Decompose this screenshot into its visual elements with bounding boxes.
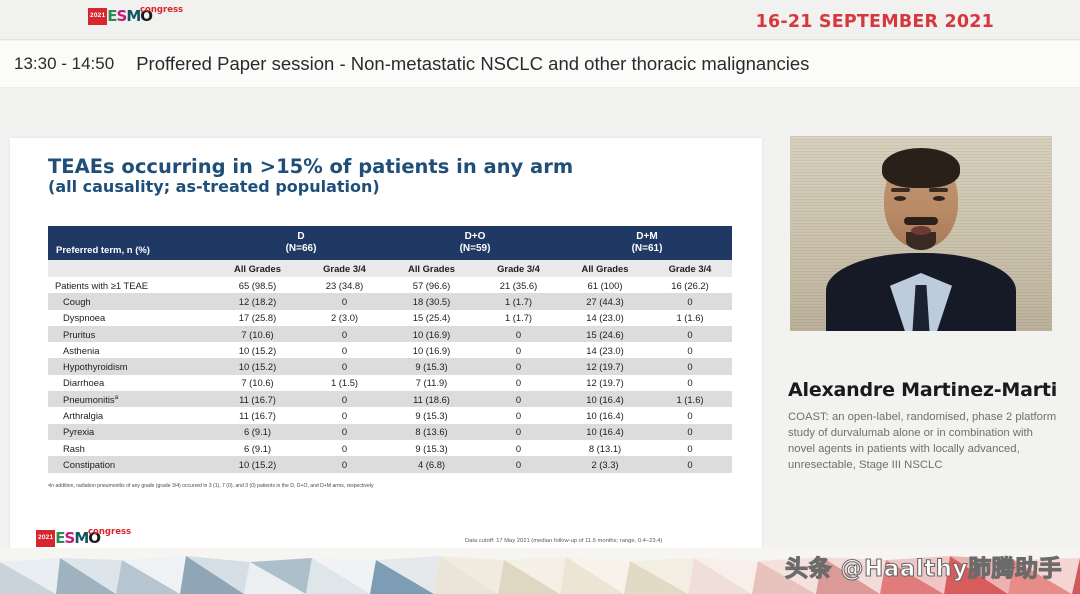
cell-value: 0 xyxy=(648,375,732,391)
cell-value: 11 (16.7) xyxy=(214,407,301,423)
column-header-arm-dm: D+M (N=61) xyxy=(562,226,732,260)
cell-value: 2 (3.0) xyxy=(301,310,388,326)
cell-value: 21 (35.6) xyxy=(475,277,562,293)
cell-value: 12 (19.7) xyxy=(562,375,648,391)
cell-value: 0 xyxy=(301,293,388,309)
speaker-name: Alexandre Martinez-Marti xyxy=(788,380,1063,402)
table-row: Asthenia10 (15.2)010 (16.9)014 (23.0)0 xyxy=(48,342,732,358)
slide-logo-letter-s: S xyxy=(65,530,75,547)
cell-value: 15 (24.6) xyxy=(562,326,648,342)
arm-dm-n: (N=61) xyxy=(632,243,663,254)
cell-value: 0 xyxy=(475,358,562,374)
logo-congress-text: congress xyxy=(140,5,183,15)
cell-value: 0 xyxy=(301,342,388,358)
cell-preferred-term: Pruritus xyxy=(48,326,214,342)
logo-letter-m: M xyxy=(126,8,140,25)
video-hair xyxy=(882,148,960,188)
cell-value: 0 xyxy=(301,326,388,342)
cell-value: 9 (15.3) xyxy=(388,440,475,456)
cell-value: 0 xyxy=(475,456,562,472)
subheader-do-all-grades: All Grades xyxy=(388,260,475,277)
subheader-dm-grade34: Grade 3/4 xyxy=(648,260,732,277)
cell-preferred-term: Diarrhoea xyxy=(48,375,214,391)
slide-logo-letter-e: E xyxy=(55,530,64,547)
cell-value: 10 (16.9) xyxy=(388,326,475,342)
cell-preferred-term: Patients with ≥1 TEAE xyxy=(48,277,214,293)
cell-value: 0 xyxy=(475,440,562,456)
slide-logo-year-badge: 2021 xyxy=(36,530,55,547)
cell-value: 2 (3.3) xyxy=(562,456,648,472)
slide-logo-congress-text: congress xyxy=(88,527,131,537)
arm-dm-name: D+M xyxy=(636,231,657,242)
cell-value: 0 xyxy=(648,424,732,440)
cell-value: 0 xyxy=(648,358,732,374)
cell-value: 7 (10.6) xyxy=(214,375,301,391)
table-body: Patients with ≥1 TEAE65 (98.5)23 (34.8)5… xyxy=(48,277,732,473)
cell-value: 0 xyxy=(475,391,562,407)
session-title: Proffered Paper session - Non-metastatic… xyxy=(136,53,809,75)
watermark-text: 头条 @Haalthy肺腾助手 xyxy=(785,549,1062,583)
video-eye-left xyxy=(894,196,906,201)
cell-preferred-term: Pneumonitisa xyxy=(48,391,214,407)
cell-value: 14 (23.0) xyxy=(562,310,648,326)
cell-value: 0 xyxy=(301,424,388,440)
subheader-d-all-grades: All Grades xyxy=(214,260,301,277)
cell-value: 1 (1.6) xyxy=(648,391,732,407)
cell-preferred-term: Dyspnoea xyxy=(48,310,214,326)
logo-letter-e: E xyxy=(107,8,116,25)
cell-value: 0 xyxy=(648,326,732,342)
table-row: Cough12 (18.2)018 (30.5)1 (1.7)27 (44.3)… xyxy=(48,293,732,309)
cell-preferred-term: Arthralgia xyxy=(48,407,214,423)
cell-preferred-term: Pyrexia xyxy=(48,424,214,440)
table-row: Diarrhoea7 (10.6)1 (1.5)7 (11.9)012 (19.… xyxy=(48,375,732,391)
table-row: Pneumonitisa11 (16.7)011 (18.6)010 (16.4… xyxy=(48,391,732,407)
arm-d-name: D xyxy=(297,231,304,242)
speaker-talk-description: COAST: an open-label, randomised, phase … xyxy=(788,409,1063,473)
cell-value: 0 xyxy=(475,342,562,358)
esmo-congress-logo-slide: 2021 E S M O congress xyxy=(36,530,100,547)
video-eyebrow-left xyxy=(891,188,910,192)
cell-value: 12 (19.7) xyxy=(562,358,648,374)
cell-value: 0 xyxy=(648,407,732,423)
presentation-viewer: 2021 E S M O congress 16-21 SEPTEMBER 20… xyxy=(0,0,1080,594)
video-mouth xyxy=(911,226,931,235)
cell-preferred-term: Asthenia xyxy=(48,342,214,358)
teae-table: Preferred term, n (%) D (N=66) D+O (N=59… xyxy=(48,226,732,473)
cell-value: 0 xyxy=(475,375,562,391)
cell-value: 23 (34.8) xyxy=(301,277,388,293)
cell-value: 10 (16.4) xyxy=(562,424,648,440)
cell-value: 7 (10.6) xyxy=(214,326,301,342)
table-row: Rash6 (9.1)09 (15.3)08 (13.1)0 xyxy=(48,440,732,456)
top-bar: 2021 E S M O congress 16-21 SEPTEMBER 20… xyxy=(0,0,1080,40)
table-row: Arthralgia11 (16.7)09 (15.3)010 (16.4)0 xyxy=(48,407,732,423)
cell-value: 9 (15.3) xyxy=(388,358,475,374)
slide-panel[interactable]: TEAEs occurring in >15% of patients in a… xyxy=(10,138,762,560)
cell-value: 17 (25.8) xyxy=(214,310,301,326)
video-eyebrow-right xyxy=(929,188,948,192)
table-row: Dyspnoea17 (25.8)2 (3.0)15 (25.4)1 (1.7)… xyxy=(48,310,732,326)
stage-area: TEAEs occurring in >15% of patients in a… xyxy=(0,88,1080,548)
cell-preferred-term: Cough xyxy=(48,293,214,309)
cell-value: 15 (25.4) xyxy=(388,310,475,326)
logo-letter-s: S xyxy=(117,8,127,25)
slide-logo-letter-m: M xyxy=(74,530,88,547)
cell-value: 11 (16.7) xyxy=(214,391,301,407)
cell-value: 1 (1.7) xyxy=(475,310,562,326)
session-time: 13:30 - 14:50 xyxy=(14,54,114,74)
cell-value: 57 (96.6) xyxy=(388,277,475,293)
table-header-grades: All Grades Grade 3/4 All Grades Grade 3/… xyxy=(48,260,732,277)
cell-value: 4 (6.8) xyxy=(388,456,475,472)
slide-data-cutoff: Data cutoff: 17 May 2021 (median follow-… xyxy=(465,538,745,544)
arm-do-name: D+O xyxy=(465,231,486,242)
slide-title-line1: TEAEs occurring in >15% of patients in a… xyxy=(48,156,688,178)
cell-preferred-term: Rash xyxy=(48,440,214,456)
table-header-arms: Preferred term, n (%) D (N=66) D+O (N=59… xyxy=(48,226,732,260)
subheader-d-grade34: Grade 3/4 xyxy=(301,260,388,277)
subheader-spacer xyxy=(48,260,214,277)
cell-value: 10 (16.9) xyxy=(388,342,475,358)
table-head: Preferred term, n (%) D (N=66) D+O (N=59… xyxy=(48,226,732,277)
cell-value: 6 (9.1) xyxy=(214,424,301,440)
table-row: Pyrexia6 (9.1)08 (13.6)010 (16.4)0 xyxy=(48,424,732,440)
slide-title: TEAEs occurring in >15% of patients in a… xyxy=(48,156,688,196)
logo-year-badge: 2021 xyxy=(88,8,107,25)
cell-value: 65 (98.5) xyxy=(214,277,301,293)
cell-value: 0 xyxy=(475,407,562,423)
cell-value: 1 (1.6) xyxy=(648,310,732,326)
cell-preferred-term: Hypothyroidism xyxy=(48,358,214,374)
column-header-arm-d: D (N=66) xyxy=(214,226,388,260)
teae-table-wrapper: Preferred term, n (%) D (N=66) D+O (N=59… xyxy=(48,226,732,473)
slide-footnote: ᵃIn addition, radiation pneumonitis of a… xyxy=(48,483,732,489)
column-header-preferred-term: Preferred term, n (%) xyxy=(48,226,214,260)
cell-value: 10 (15.2) xyxy=(214,456,301,472)
esmo-congress-logo-top: 2021 E S M O congress xyxy=(88,8,152,25)
congress-dates: 16-21 SEPTEMBER 2021 xyxy=(756,12,994,32)
cell-preferred-term: Constipation xyxy=(48,456,214,472)
table-row: Pruritus7 (10.6)010 (16.9)015 (24.6)0 xyxy=(48,326,732,342)
cell-value: 11 (18.6) xyxy=(388,391,475,407)
table-row: Patients with ≥1 TEAE65 (98.5)23 (34.8)5… xyxy=(48,277,732,293)
cell-value: 0 xyxy=(301,456,388,472)
cell-value: 0 xyxy=(648,440,732,456)
cell-value: 0 xyxy=(475,424,562,440)
cell-value: 14 (23.0) xyxy=(562,342,648,358)
cell-value: 0 xyxy=(301,407,388,423)
cell-value: 9 (15.3) xyxy=(388,407,475,423)
cell-value: 8 (13.1) xyxy=(562,440,648,456)
subheader-do-grade34: Grade 3/4 xyxy=(475,260,562,277)
subheader-dm-all-grades: All Grades xyxy=(562,260,648,277)
cell-value: 10 (15.2) xyxy=(214,358,301,374)
cell-value: 10 (15.2) xyxy=(214,342,301,358)
cell-value: 8 (13.6) xyxy=(388,424,475,440)
arm-do-n: (N=59) xyxy=(460,243,491,254)
cell-value: 6 (9.1) xyxy=(214,440,301,456)
cell-value: 0 xyxy=(475,326,562,342)
cell-value: 1 (1.5) xyxy=(301,375,388,391)
speaker-info: Alexandre Martinez-Marti COAST: an open-… xyxy=(788,380,1063,473)
arm-d-n: (N=66) xyxy=(286,243,317,254)
cell-value: 27 (44.3) xyxy=(562,293,648,309)
cell-value: 0 xyxy=(648,293,732,309)
cell-value: 7 (11.9) xyxy=(388,375,475,391)
cell-value: 1 (1.7) xyxy=(475,293,562,309)
table-row: Hypothyroidism10 (15.2)09 (15.3)012 (19.… xyxy=(48,358,732,374)
footnote-marker: a xyxy=(115,394,119,401)
cell-value: 16 (26.2) xyxy=(648,277,732,293)
session-bar: 13:30 - 14:50 Proffered Paper session - … xyxy=(0,41,1080,88)
table-row: Constipation10 (15.2)04 (6.8)02 (3.3)0 xyxy=(48,456,732,472)
column-header-arm-do: D+O (N=59) xyxy=(388,226,562,260)
cell-value: 12 (18.2) xyxy=(214,293,301,309)
slide-title-line2: (all causality; as-treated population) xyxy=(48,178,688,196)
cell-value: 61 (100) xyxy=(562,277,648,293)
cell-value: 0 xyxy=(301,358,388,374)
cell-value: 10 (16.4) xyxy=(562,391,648,407)
speaker-video-thumbnail[interactable] xyxy=(790,136,1052,331)
cell-value: 10 (16.4) xyxy=(562,407,648,423)
cell-value: 0 xyxy=(301,391,388,407)
video-moustache xyxy=(904,217,938,225)
cell-value: 0 xyxy=(301,440,388,456)
video-eye-right xyxy=(933,196,945,201)
cell-value: 18 (30.5) xyxy=(388,293,475,309)
cell-value: 0 xyxy=(648,342,732,358)
cell-value: 0 xyxy=(648,456,732,472)
